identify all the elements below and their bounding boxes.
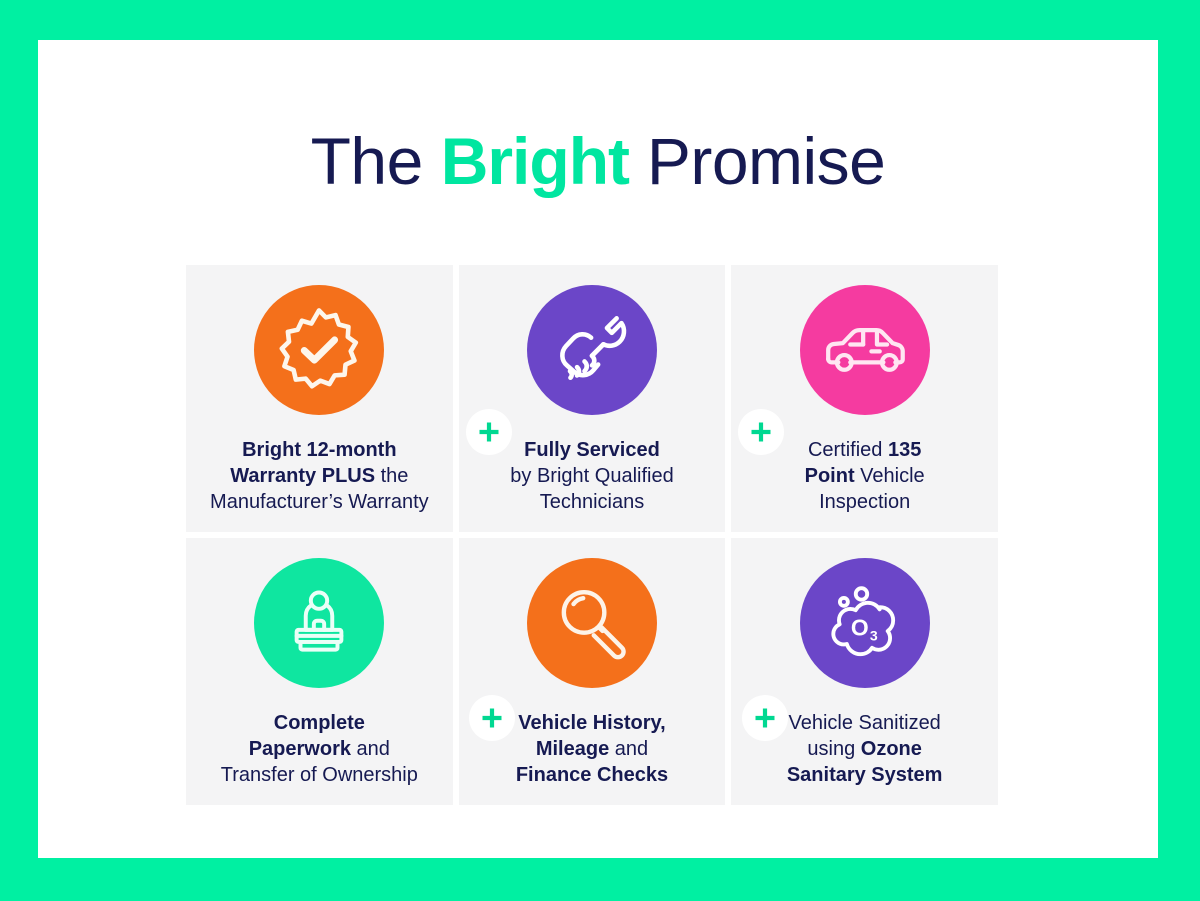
serviced-line3-plain: Technicians	[540, 491, 645, 513]
serviced-line2-plain: by Bright Qualified	[510, 465, 673, 487]
sanitized-line3-bold: Sanitary System	[787, 764, 943, 786]
icon-badge-warranty	[254, 285, 384, 415]
icon-badge-serviced	[527, 285, 657, 415]
inspection-line2-bold: Point	[805, 465, 855, 487]
magnifying-glass-icon	[548, 579, 636, 667]
icon-badge-paperwork	[254, 558, 384, 688]
promise-card-inspection[interactable]: Certified 135 Point Vehicle Inspection	[731, 265, 998, 532]
promise-card-sanitized[interactable]: O 3 Vehicle Sanitized using Ozone Sanita…	[731, 538, 998, 805]
icon-badge-sanitized: O 3	[800, 558, 930, 688]
icon-badge-inspection	[800, 285, 930, 415]
title-word-promise: Promise	[629, 124, 885, 198]
history-line2-bold: Mileage	[536, 738, 609, 760]
ozone-cloud-icon: O 3	[821, 579, 909, 667]
warranty-line1-bold: Bright 12-month	[242, 439, 396, 461]
history-line1-bold: Vehicle History,	[518, 712, 665, 734]
sanitized-line2-bold: Ozone	[861, 738, 922, 760]
warranty-line2-bold: Warranty PLUS	[230, 465, 375, 487]
promise-card-paperwork[interactable]: Complete Paperwork and Transfer of Owner…	[186, 538, 453, 805]
inspection-line1-plain: Certified	[808, 439, 888, 461]
history-line2-plain: and	[609, 738, 648, 760]
serviced-line1-bold: Fully Serviced	[524, 439, 660, 461]
paperwork-line1-bold: Complete	[274, 712, 365, 734]
hand-wrench-icon	[548, 306, 636, 394]
inspection-line2-plain: Vehicle	[855, 465, 925, 487]
promise-grid: Bright 12-month Warranty PLUS the Manufa…	[186, 265, 998, 805]
warranty-line2-plain: the	[375, 465, 408, 487]
sanitized-line2-plain: using	[807, 738, 860, 760]
rubber-stamp-icon	[276, 580, 362, 666]
history-line3-bold: Finance Checks	[516, 764, 668, 786]
car-side-icon	[819, 304, 911, 396]
icon-badge-history	[527, 558, 657, 688]
promise-text-sanitized: Vehicle Sanitized using Ozone Sanitary S…	[731, 710, 998, 788]
promise-text-inspection: Certified 135 Point Vehicle Inspection	[731, 437, 998, 515]
verified-badge-check-icon	[273, 304, 365, 396]
promise-card-serviced[interactable]: Fully Serviced by Bright Qualified Techn…	[459, 265, 726, 532]
page-title-area: The Bright Promise	[38, 128, 1158, 194]
promise-text-serviced: Fully Serviced by Bright Qualified Techn…	[459, 437, 726, 515]
inspection-line3-plain: Inspection	[819, 491, 910, 513]
paperwork-line3-plain: Transfer of Ownership	[221, 764, 418, 786]
white-canvas: The Bright Promise Bright 12-month Warra…	[38, 40, 1158, 858]
promise-text-paperwork: Complete Paperwork and Transfer of Owner…	[186, 710, 453, 788]
paperwork-line2-bold: Paperwork	[249, 738, 351, 760]
warranty-line3-plain: Manufacturer’s Warranty	[210, 491, 429, 513]
outer-green-frame: The Bright Promise Bright 12-month Warra…	[0, 0, 1200, 901]
title-word-the: The	[311, 124, 441, 198]
promise-card-warranty[interactable]: Bright 12-month Warranty PLUS the Manufa…	[186, 265, 453, 532]
paperwork-line2-plain: and	[351, 738, 390, 760]
inspection-line1-bold: 135	[888, 439, 921, 461]
promise-text-warranty: Bright 12-month Warranty PLUS the Manufa…	[186, 437, 453, 515]
promise-card-history[interactable]: Vehicle History, Mileage and Finance Che…	[459, 538, 726, 805]
promise-text-history: Vehicle History, Mileage and Finance Che…	[459, 710, 726, 788]
ozone-3-label: 3	[870, 628, 878, 644]
title-word-bright: Bright	[441, 124, 629, 198]
sanitized-line1-plain: Vehicle Sanitized	[788, 712, 940, 734]
ozone-o-label: O	[850, 614, 868, 640]
page-title: The Bright Promise	[38, 128, 1158, 194]
